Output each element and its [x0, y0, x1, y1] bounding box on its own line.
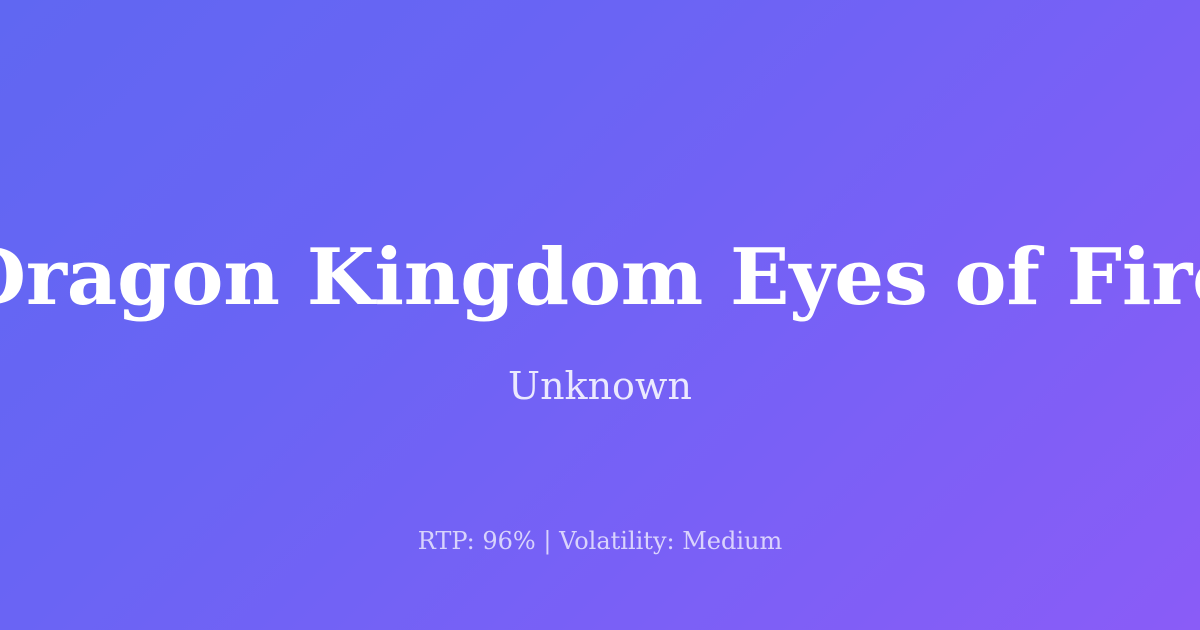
- provider-subtitle: Unknown: [0, 364, 1200, 410]
- og-image-card: Dragon Kingdom Eyes of Fire Unknown RTP:…: [0, 0, 1200, 630]
- meta-container: RTP: 96% | Volatility: Medium: [0, 526, 1200, 556]
- subtitle-container: Unknown: [0, 364, 1200, 410]
- game-stats-line: RTP: 96% | Volatility: Medium: [0, 526, 1200, 556]
- page-title: Dragon Kingdom Eyes of Fire: [0, 237, 1200, 318]
- title-container: Dragon Kingdom Eyes of Fire: [0, 236, 1200, 320]
